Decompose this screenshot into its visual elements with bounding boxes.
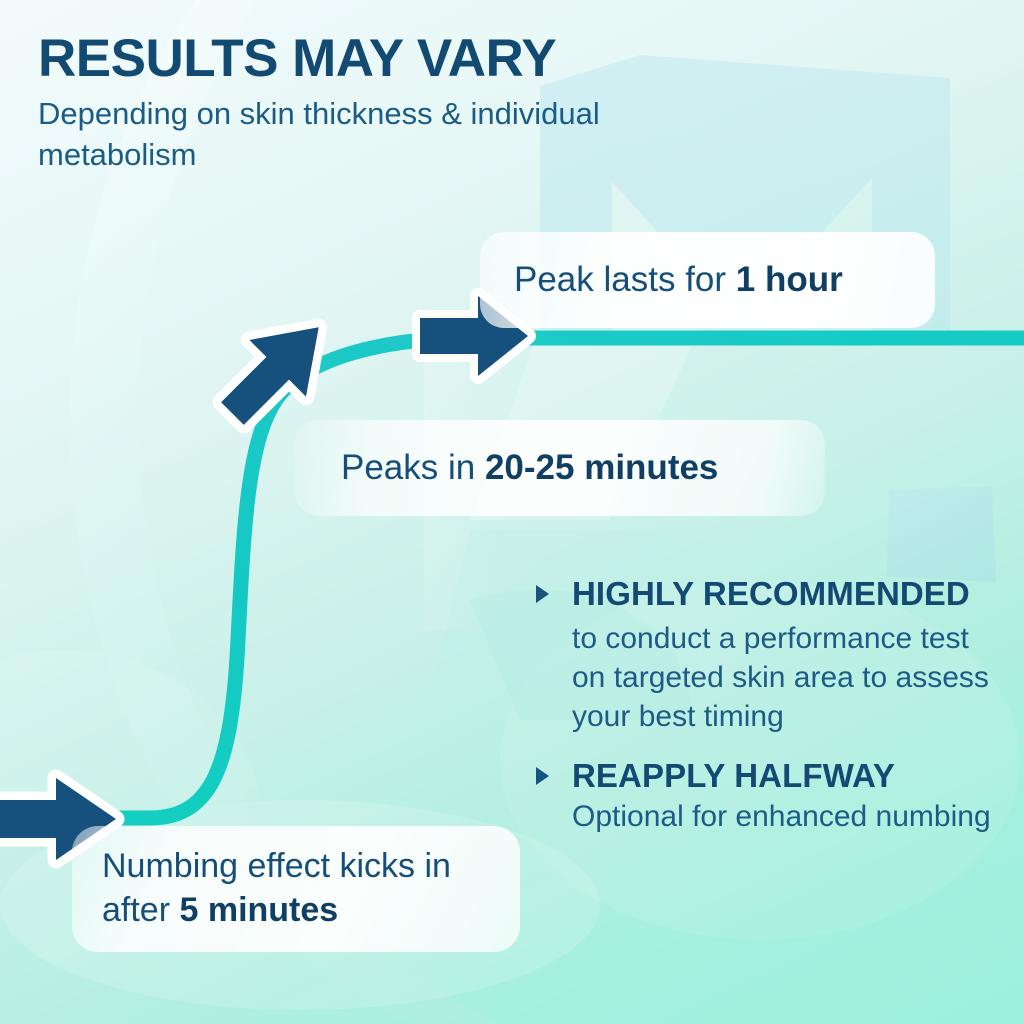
callout-peak-duration-emphasis: 1 hour (736, 260, 843, 299)
callout-peak-duration[interactable]: Peak lasts for 1 hour (480, 232, 935, 328)
tip-text: to conduct a performance test on targete… (572, 619, 1006, 736)
page-title: RESULTS MAY VARY (38, 32, 698, 85)
callout-peak-time-prefix: Peaks in (341, 448, 485, 487)
tip-heading: HIGHLY RECOMMENDED (572, 576, 1006, 613)
tips-list: HIGHLY RECOMMENDED to conduct a performa… (536, 576, 1006, 858)
callout-onset-time[interactable]: Numbing effect kicks in after 5 minutes (72, 826, 520, 952)
tip-heading: REAPPLY HALFWAY (572, 758, 1006, 795)
tip-body: HIGHLY RECOMMENDED to conduct a performa… (536, 576, 1006, 736)
page-subtitle: Depending on skin thickness & individual… (38, 94, 638, 176)
callout-peak-duration-prefix: Peak lasts for (514, 260, 736, 299)
header-block: RESULTS MAY VARY Depending on skin thick… (38, 32, 698, 176)
triangle-right-bullet-icon (536, 585, 549, 603)
decor-tilted-square (886, 486, 996, 582)
callout-peak-duration-text: Peak lasts for 1 hour (514, 257, 843, 304)
callout-peak-time[interactable]: Peaks in 20-25 minutes (295, 420, 825, 516)
callout-onset-time-text: Numbing effect kicks in after 5 minutes (102, 845, 498, 932)
list-item: HIGHLY RECOMMENDED to conduct a performa… (536, 576, 1006, 736)
callout-onset-time-emphasis: 5 minutes (179, 891, 338, 929)
triangle-right-bullet-icon (536, 767, 549, 785)
list-item: REAPPLY HALFWAY Optional for enhanced nu… (536, 758, 1006, 836)
tip-body: REAPPLY HALFWAY Optional for enhanced nu… (536, 758, 1006, 836)
tip-text: Optional for enhanced numbing (572, 797, 1006, 836)
callout-peak-time-text: Peaks in 20-25 minutes (341, 445, 718, 492)
callout-peak-time-emphasis: 20-25 minutes (485, 448, 718, 487)
infographic-canvas: RESULTS MAY VARY Depending on skin thick… (0, 0, 1024, 1024)
